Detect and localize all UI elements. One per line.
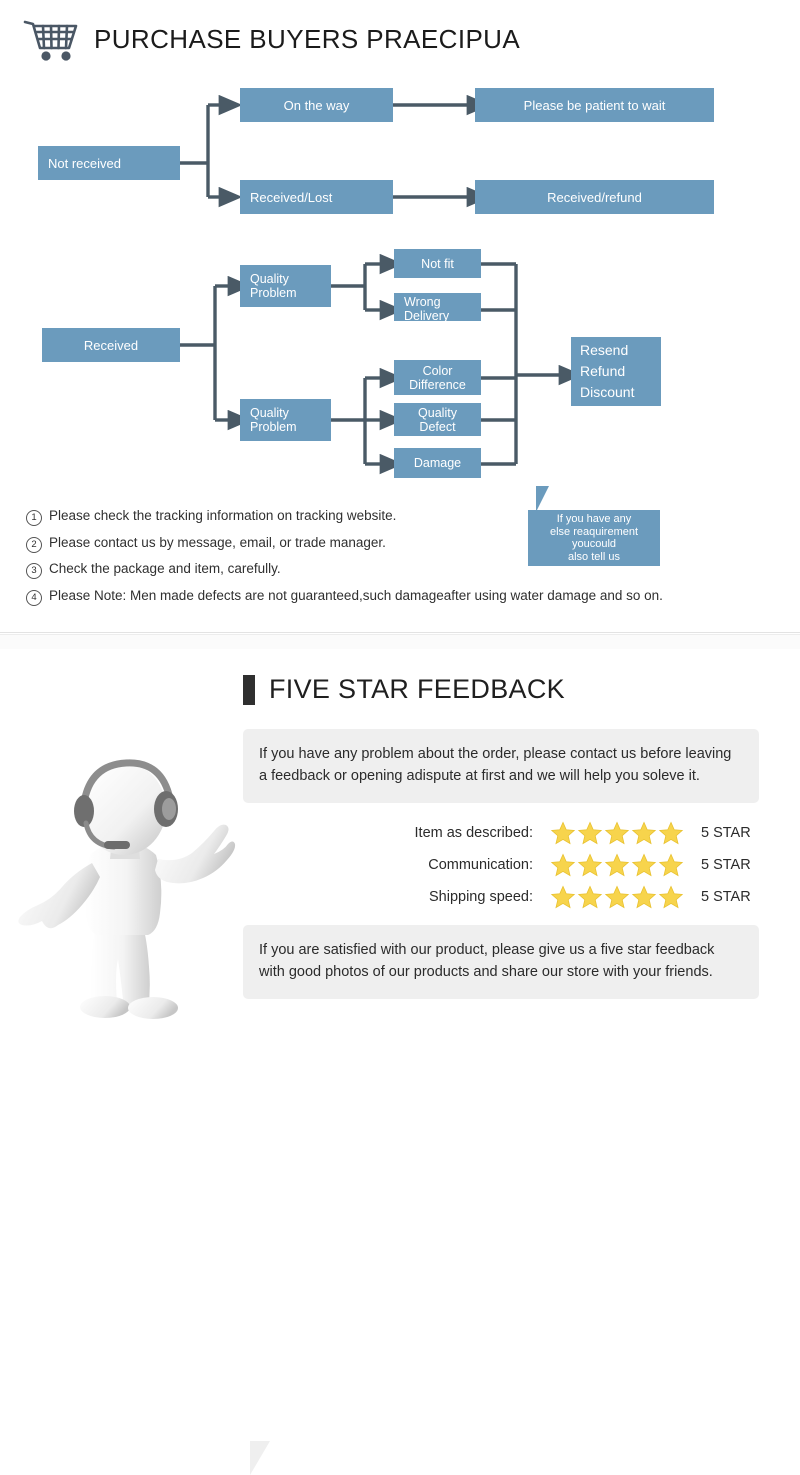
flow-node-label-line2: Problem [250, 420, 297, 434]
rating-label: Shipping speed: [429, 889, 533, 905]
star-icon [631, 852, 657, 878]
list-item: 3 Check the package and item, carefully. [26, 561, 782, 579]
section-divider [0, 634, 800, 650]
flow-node-label-line2: Problem [250, 286, 297, 300]
list-item-number: 1 [26, 510, 42, 526]
flow-node-label-line1: Resend [580, 340, 628, 361]
list-item-text: Please check the tracking information on… [49, 508, 396, 524]
star-icon [604, 820, 630, 846]
flow-node-not-received: Not received [38, 146, 180, 180]
list-item-number: 3 [26, 563, 42, 579]
ratings-list: Item as described: 5 STAR Communication:… [243, 817, 759, 913]
purchase-header: PURCHASE BUYERS PRAECIPUA [22, 14, 520, 64]
flow-node-label-line2: Delivery [404, 309, 449, 321]
flow-node-label: Received/Lost [250, 190, 332, 205]
shopping-cart-icon [22, 14, 80, 64]
feedback-note-top: If you have any problem about the order,… [243, 729, 759, 803]
star-icon [550, 820, 576, 846]
flow-node-wrong-delivery: Wrong Delivery [394, 293, 481, 321]
flow-node-label-line1: Color [423, 364, 453, 378]
flow-node-label-line2: Difference [409, 378, 466, 392]
star-icon [631, 820, 657, 846]
feedback-note-bottom: If you are satisfied with our product, p… [243, 925, 759, 999]
flow-node-please-wait: Please be patient to wait [475, 88, 714, 122]
star-icon [577, 852, 603, 878]
star-rating [543, 884, 691, 910]
flowchart: Not received On the way Please be patien… [0, 78, 800, 508]
flow-node-not-fit: Not fit [394, 249, 481, 278]
feedback-section: FIVE STAR FEEDBACK If you have any probl… [0, 649, 800, 1032]
flow-node-label: Not received [48, 156, 121, 171]
flow-node-label: Not fit [421, 257, 454, 271]
flow-node-label: On the way [284, 98, 350, 113]
rating-value: 5 STAR [701, 857, 759, 873]
flow-node-label-line1: Quality [418, 406, 457, 420]
rating-label: Item as described: [415, 825, 533, 841]
flow-node-resend-refund-discount: Resend Refund Discount [571, 337, 661, 406]
star-icon [550, 884, 576, 910]
rating-value: 5 STAR [701, 889, 759, 905]
flow-node-label: Received/refund [547, 190, 642, 205]
flow-node-quality-defect: Quality Defect [394, 403, 481, 436]
flow-node-label-line1: Quality [250, 406, 289, 420]
flow-node-received-lost: Received/Lost [240, 180, 393, 214]
list-item-text: Check the package and item, carefully. [49, 561, 281, 577]
flow-node-quality-problem-1: Quality Problem [240, 265, 331, 307]
purchase-section: PURCHASE BUYERS PRAECIPUA [0, 0, 800, 633]
purchase-notes-list: 1 Please check the tracking information … [26, 508, 782, 614]
star-icon [604, 884, 630, 910]
rating-label: Communication: [428, 857, 533, 873]
rating-row: Item as described: 5 STAR [243, 817, 759, 849]
support-agent-mascot [12, 759, 242, 1021]
star-icon [658, 884, 684, 910]
star-icon [577, 884, 603, 910]
flow-node-label-line1: Wrong [404, 295, 441, 309]
star-icon [658, 852, 684, 878]
flow-node-on-the-way: On the way [240, 88, 393, 122]
flow-node-damage: Damage [394, 448, 481, 478]
list-item-text: Please Note: Men made defects are not gu… [49, 588, 663, 604]
star-rating [543, 820, 691, 846]
star-icon [577, 820, 603, 846]
page-title: PURCHASE BUYERS PRAECIPUA [94, 24, 520, 55]
flow-node-label-line3: Discount [580, 382, 634, 403]
list-item-number: 4 [26, 590, 42, 606]
star-rating [543, 852, 691, 878]
flow-node-label-line2: Defect [419, 420, 455, 434]
flow-node-label-line1: Quality [250, 272, 289, 286]
flow-node-label: Received [84, 338, 138, 353]
feedback-title: FIVE STAR FEEDBACK [269, 674, 565, 705]
star-icon [658, 820, 684, 846]
list-item: 1 Please check the tracking information … [26, 508, 782, 526]
star-icon [631, 884, 657, 910]
flow-node-color-difference: Color Difference [394, 360, 481, 395]
list-item: 4 Please Note: Men made defects are not … [26, 588, 782, 606]
star-icon [550, 852, 576, 878]
flow-node-label-line2: Refund [580, 361, 625, 382]
flow-node-label: Damage [414, 456, 461, 470]
feedback-header: FIVE STAR FEEDBACK [243, 674, 565, 705]
rating-value: 5 STAR [701, 825, 759, 841]
flow-node-received-refund: Received/refund [475, 180, 714, 214]
rating-row: Shipping speed: 5 STAR [243, 881, 759, 913]
rating-row: Communication: 5 STAR [243, 849, 759, 881]
flow-node-label: Please be patient to wait [524, 98, 666, 113]
star-icon [604, 852, 630, 878]
list-item: 2 Please contact us by message, email, o… [26, 535, 782, 553]
speech-bubble-tail [250, 1441, 270, 1475]
flow-node-quality-problem-2: Quality Problem [240, 399, 331, 441]
accent-bar-icon [243, 675, 255, 705]
list-item-text: Please contact us by message, email, or … [49, 535, 386, 551]
flow-node-received: Received [42, 328, 180, 362]
list-item-number: 2 [26, 537, 42, 553]
